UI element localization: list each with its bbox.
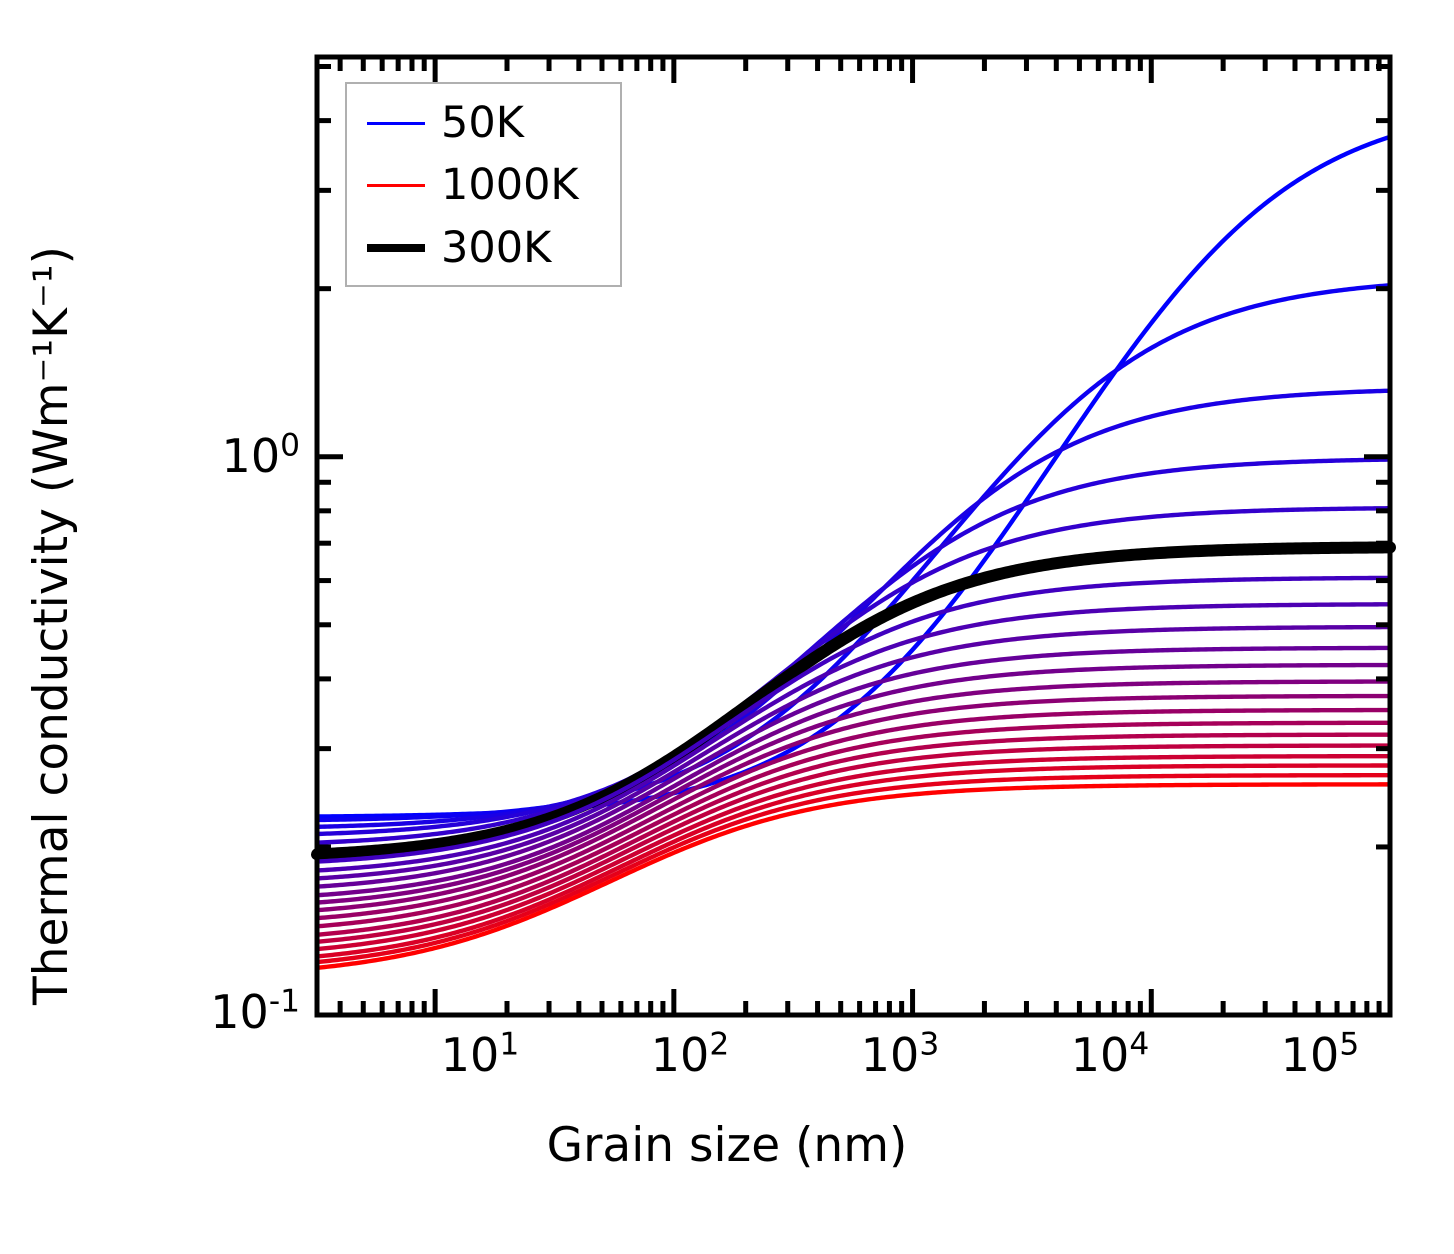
curve-750k (317, 723, 1390, 927)
legend-swatch-300k (367, 244, 425, 252)
legend-swatch-50k (367, 122, 425, 125)
legend-swatch-1000k (367, 184, 425, 187)
legend-label-300k: 300K (441, 227, 551, 270)
y-axis-label: Thermal conductivity (Wm⁻¹K⁻¹) (24, 246, 79, 1005)
curve-150k (317, 391, 1390, 827)
xtick-label-1: 101 (441, 1028, 519, 1082)
legend-label-1000k: 1000K (441, 164, 579, 207)
x-axis-label: Grain size (nm) (0, 1118, 1454, 1173)
legend-entry-300k: 300K (347, 217, 620, 279)
chart-figure: 101 102 103 104 105 100 10-1 Grain size … (0, 0, 1454, 1254)
xtick-label-2: 102 (651, 1028, 729, 1082)
xtick-label-3: 103 (861, 1028, 939, 1082)
legend-entry-1000k: 1000K (347, 154, 620, 216)
curve-550k (317, 665, 1390, 895)
chart-legend: 50K 1000K 300K (345, 82, 622, 287)
xtick-label-5: 105 (1281, 1028, 1359, 1082)
xtick-label-4: 104 (1071, 1028, 1149, 1082)
legend-label-50k: 50K (441, 102, 524, 145)
ytick-label-0: 100 (222, 429, 300, 483)
legend-entry-50k: 50K (347, 92, 620, 154)
ytick-label-1: 10-1 (210, 985, 300, 1039)
